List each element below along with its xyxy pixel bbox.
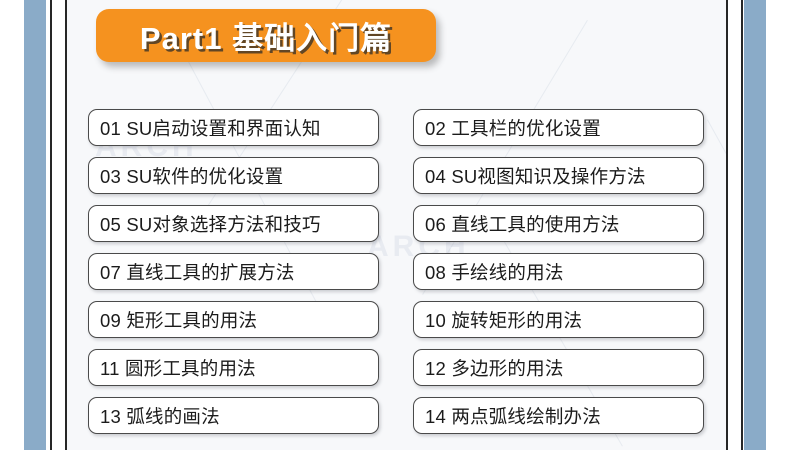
page-root: ARCH ARCH ARCH ARCH Part1 基础入门篇 01 SU启动设… xyxy=(0,0,790,450)
lesson-item-label: 07 直线工具的扩展方法 xyxy=(100,259,295,285)
lesson-item-label: 11 圆形工具的用法 xyxy=(100,355,256,381)
lesson-row: 07 直线工具的扩展方法 08 手绘线的用法 xyxy=(88,253,726,290)
section-title-banner: Part1 基础入门篇 xyxy=(96,9,436,62)
lesson-row: 09 矩形工具的用法 10 旋转矩形的用法 xyxy=(88,301,726,338)
lesson-item-label: 08 手绘线的用法 xyxy=(425,259,564,285)
right-rule-outer xyxy=(741,0,743,450)
lesson-item[interactable]: 12 多边形的用法 xyxy=(413,349,704,386)
lesson-item[interactable]: 11 圆形工具的用法 xyxy=(88,349,379,386)
lesson-item-label: 12 多边形的用法 xyxy=(425,355,564,381)
right-rule-inner xyxy=(726,0,728,450)
lesson-item[interactable]: 05 SU对象选择方法和技巧 xyxy=(88,205,379,242)
lesson-item[interactable]: 13 弧线的画法 xyxy=(88,397,379,434)
lesson-row: 05 SU对象选择方法和技巧 06 直线工具的使用方法 xyxy=(88,205,726,242)
lesson-row: 03 SU软件的优化设置 04 SU视图知识及操作方法 xyxy=(88,157,726,194)
lesson-item[interactable]: 09 矩形工具的用法 xyxy=(88,301,379,338)
lesson-item[interactable]: 07 直线工具的扩展方法 xyxy=(88,253,379,290)
lesson-item-label: 04 SU视图知识及操作方法 xyxy=(425,163,646,189)
section-title-text: Part1 基础入门篇 xyxy=(140,13,392,58)
lesson-item-label: 02 工具栏的优化设置 xyxy=(425,115,601,141)
lesson-item-label: 10 旋转矩形的用法 xyxy=(425,307,582,333)
left-blue-rail xyxy=(24,0,46,450)
lesson-row: 11 圆形工具的用法 12 多边形的用法 xyxy=(88,349,726,386)
lesson-item-label: 01 SU启动设置和界面认知 xyxy=(100,115,321,141)
lesson-row: 01 SU启动设置和界面认知 02 工具栏的优化设置 xyxy=(88,109,726,146)
lesson-item-label: 03 SU软件的优化设置 xyxy=(100,163,283,189)
lesson-item-label: 05 SU对象选择方法和技巧 xyxy=(100,211,321,237)
lesson-item[interactable]: 03 SU软件的优化设置 xyxy=(88,157,379,194)
lesson-item-label: 14 两点弧线绘制办法 xyxy=(425,403,601,429)
lesson-item[interactable]: 10 旋转矩形的用法 xyxy=(413,301,704,338)
lesson-item[interactable]: 08 手绘线的用法 xyxy=(413,253,704,290)
lesson-item[interactable]: 04 SU视图知识及操作方法 xyxy=(413,157,704,194)
lesson-item[interactable]: 01 SU启动设置和界面认知 xyxy=(88,109,379,146)
lesson-item[interactable]: 06 直线工具的使用方法 xyxy=(413,205,704,242)
lesson-list: 01 SU启动设置和界面认知 02 工具栏的优化设置 03 SU软件的优化设置 … xyxy=(88,109,726,445)
left-rule-outer xyxy=(50,0,52,450)
lesson-item[interactable]: 14 两点弧线绘制办法 xyxy=(413,397,704,434)
lesson-item-label: 13 弧线的画法 xyxy=(100,403,220,429)
lesson-item[interactable]: 02 工具栏的优化设置 xyxy=(413,109,704,146)
content-panel: ARCH ARCH ARCH ARCH Part1 基础入门篇 01 SU启动设… xyxy=(67,0,726,450)
lesson-item-label: 09 矩形工具的用法 xyxy=(100,307,257,333)
right-blue-rail xyxy=(744,0,766,450)
lesson-item-label: 06 直线工具的使用方法 xyxy=(425,211,620,237)
lesson-row: 13 弧线的画法 14 两点弧线绘制办法 xyxy=(88,397,726,434)
